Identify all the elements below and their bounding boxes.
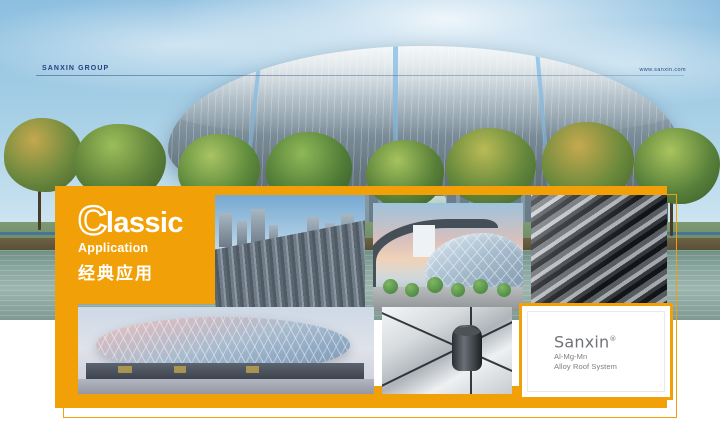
page-header: SANXIN GROUP www.sanxin.com	[0, 30, 720, 52]
lit-window	[174, 366, 186, 373]
title-rest: lassic	[106, 209, 183, 238]
collage-block: C lassic Application 经典应用	[55, 186, 667, 408]
gallery-photo-dark-metal-ribs	[531, 195, 667, 311]
brand-alloy-line: Al-Mg-Mn	[554, 352, 664, 362]
tree	[4, 118, 82, 192]
brand-logo-card: Sanxin® Al-Mg-Mn Alloy Roof System	[519, 303, 673, 400]
gallery-photo-oval-stadium	[78, 307, 374, 394]
tree	[383, 279, 398, 294]
shell-seam	[382, 311, 512, 374]
foreground-plaza	[78, 379, 374, 394]
trademark-symbol: ®	[609, 335, 616, 343]
building	[219, 213, 232, 247]
shell-seam	[382, 320, 512, 388]
roof-cylinder	[452, 325, 482, 371]
brand-logo-inner: Sanxin® Al-Mg-Mn Alloy Roof System	[527, 311, 665, 392]
feature-title-chinese: 经典应用	[78, 259, 183, 284]
website-url[interactable]: www.sanxin.com	[639, 67, 686, 73]
feature-subtitle: Application	[78, 241, 183, 255]
tree	[451, 283, 465, 297]
brand-name: Sanxin®	[554, 331, 664, 350]
lit-window	[118, 366, 132, 373]
feature-title-block: C lassic Application 经典应用	[78, 204, 183, 284]
company-logo-text: SANXIN GROUP	[42, 65, 109, 72]
brochure-page: SANXIN GROUP www.sanxin.com C lassic App…	[0, 0, 720, 435]
gallery-photo-standing-seam-roof	[215, 195, 365, 307]
tree	[427, 277, 443, 293]
gallery-photo-white-shell	[382, 307, 512, 394]
header-divider	[36, 75, 684, 76]
tree-trunk	[38, 186, 41, 230]
orange-frame-top	[215, 186, 667, 195]
lit-window	[246, 366, 259, 373]
tree	[497, 283, 511, 297]
tree	[405, 283, 419, 297]
feature-panel: C lassic Application 经典应用	[55, 186, 215, 304]
title-initial: C	[78, 204, 106, 238]
brand-name-text: Sanxin	[554, 332, 609, 351]
tree	[473, 279, 488, 294]
brand-system-line: Alloy Roof System	[554, 362, 664, 372]
gallery-photo-glass-pavilion	[373, 203, 523, 311]
